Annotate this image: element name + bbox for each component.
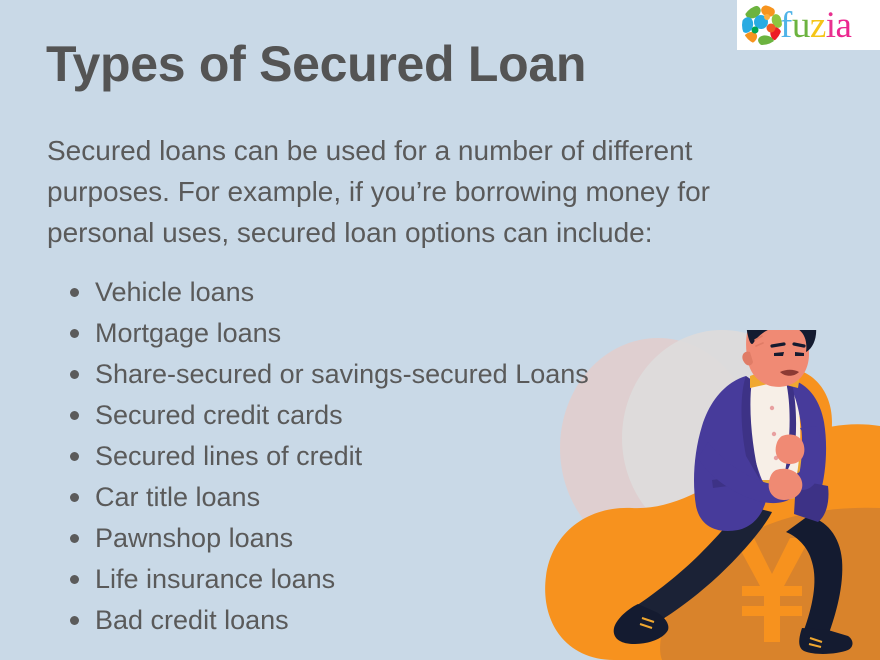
shoe-back-laces	[809, 638, 822, 647]
jacket-front-right	[788, 380, 826, 494]
hand-upper	[776, 434, 805, 464]
fuzia-letter-u-1: u	[792, 5, 810, 46]
bullet-dot-icon	[70, 370, 79, 379]
bow-tie-knot	[768, 371, 782, 385]
hand-lower	[769, 469, 803, 500]
fuzia-letter-a-4: a	[836, 5, 852, 46]
sack-fold-lower	[762, 448, 817, 500]
bullet-dot-icon	[70, 534, 79, 543]
eyebrows	[772, 344, 804, 346]
shirt-buttons	[770, 406, 778, 460]
list-item-label: Vehicle loans	[95, 277, 254, 307]
bullet-dot-icon	[70, 452, 79, 461]
secured-loan-types-list: Vehicle loansMortgage loansShare-secured…	[47, 272, 747, 641]
slide-canvas: fuzia Types of Secured Loan Secured loan…	[0, 0, 880, 660]
jacket-lapel-right	[784, 378, 796, 478]
list-item-label: Secured credit cards	[95, 400, 343, 430]
leg-back	[786, 516, 842, 636]
page-title: Types of Secured Loan	[46, 36, 586, 92]
shoe-back	[799, 628, 852, 654]
sack-fold-crease	[772, 462, 802, 490]
list-item: Secured lines of credit	[47, 436, 747, 477]
bullet-dot-icon	[70, 575, 79, 584]
intro-paragraph: Secured loans can be used for a number o…	[47, 130, 815, 253]
shirt	[744, 377, 801, 480]
fuzia-letter-z-2: z	[810, 5, 826, 46]
list-item-label: Life insurance loans	[95, 564, 335, 594]
fuzia-logo-mark-icon	[740, 3, 784, 47]
list-item-label: Bad credit loans	[95, 605, 289, 635]
eyes	[774, 352, 804, 356]
jacket-tail	[794, 480, 829, 522]
hair	[747, 330, 817, 352]
bullet-dot-icon	[70, 329, 79, 338]
fuzia-wordmark: fuzia	[780, 7, 851, 44]
bow-tie	[750, 370, 800, 388]
list-item: Pawnshop loans	[47, 518, 747, 559]
neck	[758, 350, 792, 381]
list-item: Share-secured or savings-secured Loans	[47, 354, 747, 395]
bullet-dot-icon	[70, 411, 79, 420]
head	[746, 330, 809, 387]
list-item-label: Car title loans	[95, 482, 260, 512]
fuzia-logo[interactable]: fuzia	[737, 0, 880, 50]
list-item-label: Mortgage loans	[95, 318, 281, 348]
list-item-label: Pawnshop loans	[95, 523, 293, 553]
bullet-dot-icon	[70, 493, 79, 502]
list-item: Vehicle loans	[47, 272, 747, 313]
arm-right	[796, 426, 822, 490]
list-item: Car title loans	[47, 477, 747, 518]
bullet-dot-icon	[70, 616, 79, 625]
list-item: Mortgage loans	[47, 313, 747, 354]
list-item-label: Secured lines of credit	[95, 441, 362, 471]
list-item: Secured credit cards	[47, 395, 747, 436]
list-item-label: Share-secured or savings-secured Loans	[95, 359, 589, 389]
fuzia-letter-i-3: i	[826, 5, 836, 46]
list-item: Life insurance loans	[47, 559, 747, 600]
bullet-dot-icon	[70, 288, 79, 297]
sack-cloth	[780, 370, 832, 482]
mouth	[780, 370, 799, 376]
list-item: Bad credit loans	[47, 600, 747, 641]
cheek-lines	[755, 336, 763, 346]
